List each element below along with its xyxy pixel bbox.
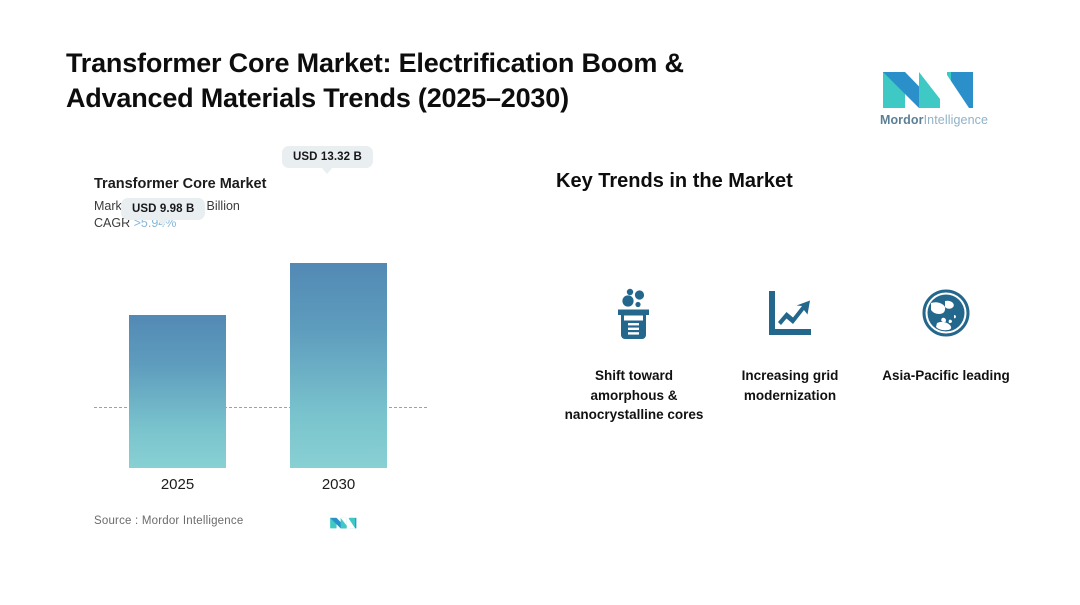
trend-label-1: Shift toward amorphous & nanocrystalline… [564,366,704,425]
brand-name-primary: Mordor [880,113,924,127]
page-title-line-2: Advanced Materials Trends (2025–2030) [66,81,866,116]
x-axis-label-2030: 2030 [290,476,387,493]
bar-value-badge-2030: USD 13.32 B [282,146,373,168]
mordor-intelligence-logo-icon [879,52,989,110]
chart-source-text: Source : Mordor Intelligence [94,515,243,527]
trend-label-3: Asia-Pacific leading [876,366,1016,386]
bar-value-badge-2025: USD 9.98 B [121,198,205,220]
trend-item-2: Increasing grid modernization [712,282,868,425]
infographic-page: Transformer Core Market: Electrification… [0,0,1080,605]
chart-x-axis-labels: 2025 2030 [94,476,439,498]
trend-label-2: Increasing grid modernization [720,366,860,405]
bar-2025 [129,315,226,468]
trend-item-1: Shift toward amorphous & nanocrystalline… [556,282,712,425]
brand-name: MordorIntelligence [868,113,1000,127]
beaker-icon [611,282,657,344]
key-trends-title: Key Trends in the Market [556,170,1026,193]
bar-2030 [290,263,387,468]
brand-name-secondary: Intelligence [924,113,988,127]
page-title-line-1: Transformer Core Market: Electrification… [66,46,866,81]
page-title: Transformer Core Market: Electrification… [66,46,866,116]
mordor-intelligence-mark-icon [329,512,361,529]
trend-item-3: Asia-Pacific leading [868,282,1024,425]
x-axis-label-2025: 2025 [129,476,226,493]
page-header: Transformer Core Market: Electrification… [66,46,866,116]
line-chart-up-icon [765,282,815,344]
chart-title: Transformer Core Market [94,176,439,192]
chart-panel: Transformer Core Market Market Size in U… [94,176,439,541]
globe-asia-pacific-icon [921,282,971,344]
key-trends-list: Shift toward amorphous & nanocrystalline… [556,282,1026,425]
chart-source: Source : Mordor Intelligence [94,512,439,529]
key-trends-panel: Key Trends in the Market [556,170,1026,193]
brand-logo: MordorIntelligence [868,52,1000,127]
bar-chart-plot: USD 9.98 B USD 13.32 B [94,248,439,468]
